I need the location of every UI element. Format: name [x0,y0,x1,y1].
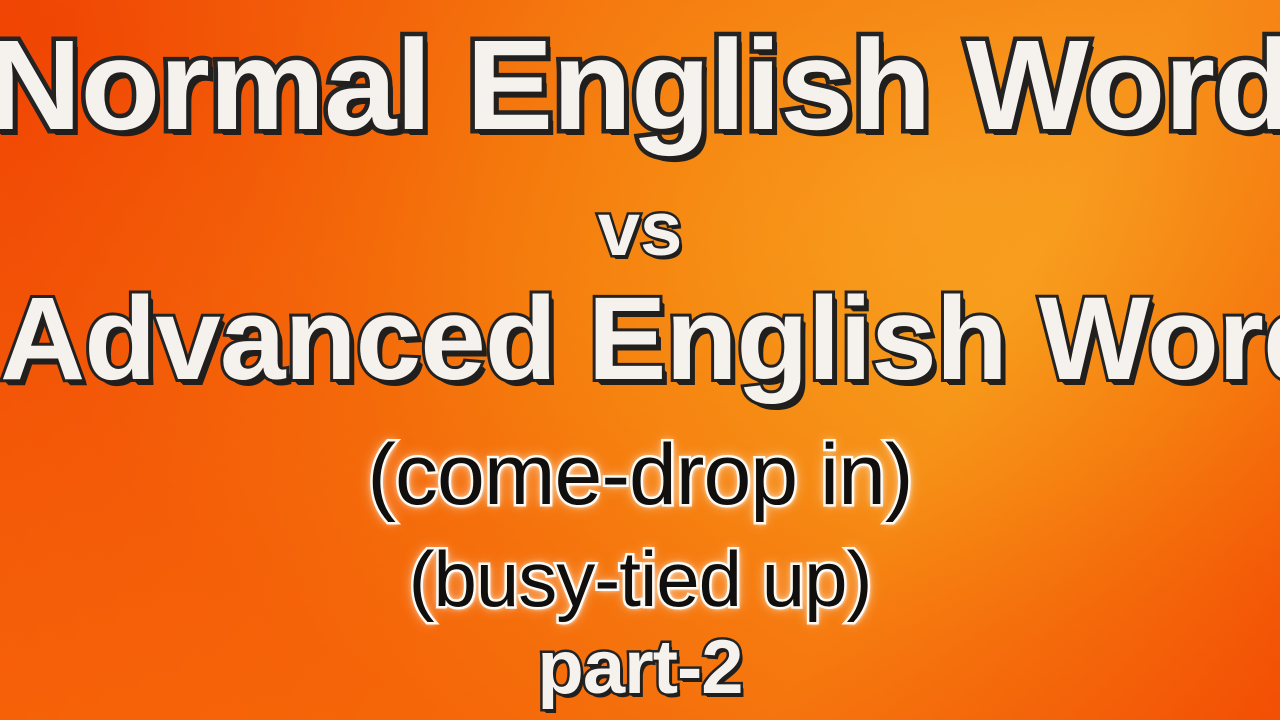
versus-separator: vs [0,192,1280,268]
example-pair-one: (come-drop in) [0,432,1280,518]
example-pair-two: (busy-tied up) [0,540,1280,618]
title-primary: Normal English Words [0,22,1280,150]
part-number-label: part-2 [0,630,1280,706]
thumbnail-canvas: Normal English Words vs Advanced English… [0,0,1280,720]
title-secondary: Advanced English Words [0,280,1280,398]
